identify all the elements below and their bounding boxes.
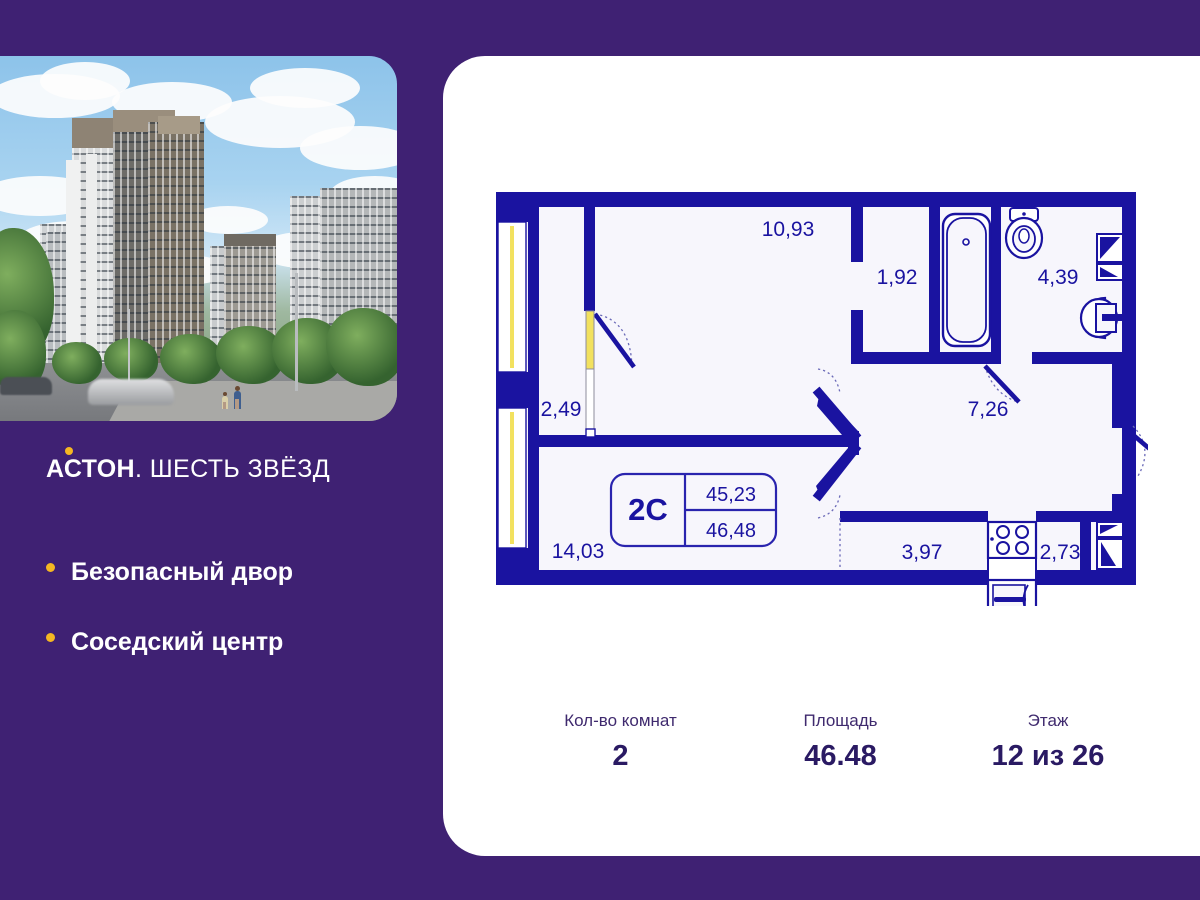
facade-glazing [496,192,528,585]
pedestrian [220,385,229,409]
stat-floor-label: Этаж [943,711,1153,731]
building-edge [86,154,97,376]
area-label-pantry: 2,73 [1040,541,1081,564]
stat-rooms-value: 2 [503,740,738,773]
left-panel: АСТОН. ШЕСТЬ ЗВЁЗД Безопасный двор Сосед… [0,0,443,900]
kitchen-counter [988,558,1036,580]
feature-label: Соседский центр [71,628,283,656]
stat-floor: Этаж 12 из 26 [943,711,1153,773]
badge-area-total: 46,48 [706,520,756,542]
area-label-bathroom: 4,39 [1038,266,1079,289]
kitchen-sink-icon [988,580,1036,606]
building-crown [72,118,116,148]
badge-type: 2С [628,492,668,527]
building-crown [158,116,200,134]
stat-rooms-label: Кол-во комнат [503,711,738,731]
bathtub [943,214,990,346]
pedestrian [232,375,242,409]
apartment-card: 10,93 2,49 14,03 1,92 4,39 7,26 3,97 2,7… [443,56,1200,856]
feature-item-1: Соседский центр [46,628,283,657]
feature-label: Безопасный двор [71,558,293,586]
hero-render-photo [0,56,397,421]
floor-plan-svg: 10,93 2,49 14,03 1,92 4,39 7,26 3,97 2,7… [488,186,1148,606]
area-label-bedroom: 14,03 [552,540,605,563]
street-lamp [295,273,298,391]
area-label-balcony: 2,49 [541,398,582,421]
area-label-living-room: 10,93 [762,218,815,241]
street-lamp [128,309,130,387]
pantry-cabinet-icon [1097,522,1123,569]
area-label-closet: 1,92 [877,266,918,289]
area-label-hall: 7,26 [968,398,1009,421]
kitchen-hob-icon [988,522,1036,558]
badge-area-living: 45,23 [706,484,756,506]
washbasin [1081,298,1122,338]
bathroom-cabinet-icon [1097,234,1123,280]
building-crown [224,234,276,246]
toilet [1006,208,1042,258]
stat-area-label: Площадь [738,711,943,731]
car [0,377,52,395]
apartment-stats: Кол-во комнат 2 Площадь 46.48 Этаж 12 из… [503,711,1163,821]
stat-rooms: Кол-во комнат 2 [503,711,738,773]
tree [52,342,102,384]
feature-item-0: Безопасный двор [46,558,293,587]
car [88,379,174,405]
brand-accent-dot [65,447,73,455]
area-label-kitchen: 3,97 [902,541,943,564]
stat-floor-value: 12 из 26 [943,740,1153,773]
living-room-door-jamb [586,311,595,437]
tree [160,334,222,384]
cloud [300,126,397,170]
floor-plan: 10,93 2,49 14,03 1,92 4,39 7,26 3,97 2,7… [488,186,1148,606]
bullet-icon [46,563,55,572]
brand-suffix: . ШЕСТЬ ЗВЁЗД [135,455,330,483]
stat-area: Площадь 46.48 [738,711,943,773]
brand-title: АСТОН. ШЕСТЬ ЗВЁЗД [46,455,330,484]
brand-name: АСТОН [46,455,135,483]
cloud [250,68,360,108]
bullet-icon [46,633,55,642]
stat-area-value: 46.48 [738,740,943,773]
tree [104,338,158,382]
